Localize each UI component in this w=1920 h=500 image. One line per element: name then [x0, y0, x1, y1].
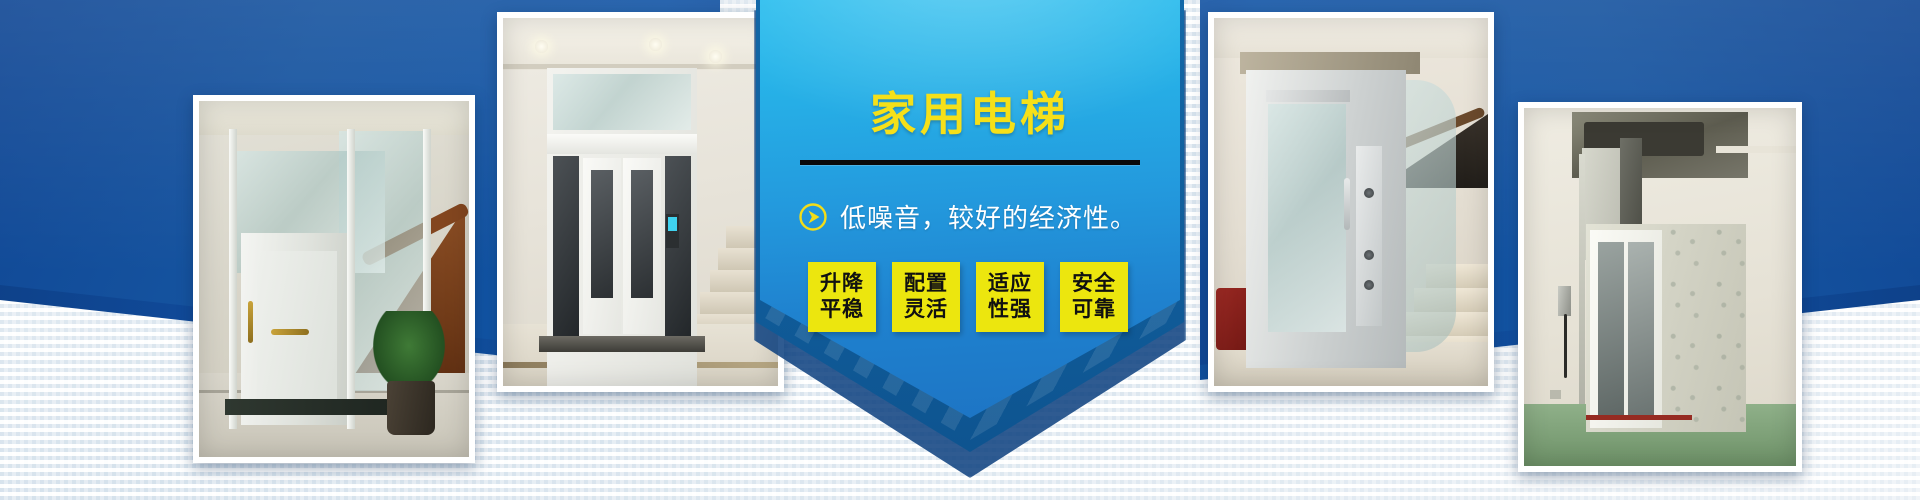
photo-glass-shaft-elevator-with-staircase-and-plant	[199, 101, 469, 457]
badge-line-2: 平稳	[820, 297, 864, 323]
badge-line-2: 可靠	[1072, 297, 1116, 323]
photo3-vignette	[1214, 18, 1488, 386]
photo2-vignette	[503, 18, 778, 386]
page-title: 家用电梯	[760, 78, 1180, 144]
badge-line-1: 升降	[820, 271, 864, 297]
list-item[interactable]	[1208, 12, 1494, 392]
badge-line-1: 适应	[988, 271, 1032, 297]
feature-badge-list: 升降 平稳 配置 灵活 适应 性强 安全 可靠	[808, 262, 1128, 332]
feature-badge[interactable]: 适应 性强	[976, 262, 1044, 332]
badge-line-1: 安全	[1072, 271, 1116, 297]
feature-badge[interactable]: 安全 可靠	[1060, 262, 1128, 332]
photo1-vignette	[199, 101, 469, 457]
panel-content: 家用电梯 低噪音，较好的经济性。 升降 平稳 配置 灵活	[760, 0, 1180, 418]
list-item[interactable]	[193, 95, 475, 463]
photo4-vignette	[1524, 108, 1796, 466]
badge-line-1: 配置	[904, 271, 948, 297]
subtitle-row: 低噪音，较好的经济性。	[798, 198, 1137, 235]
photo-aluminium-glass-cabin-elevator-beside-stone-stairs	[1214, 18, 1488, 386]
badge-line-2: 性强	[988, 297, 1032, 323]
circled-play-arrow-icon	[798, 202, 828, 232]
photo-modern-white-sliding-door-elevator-with-marble-stairs	[503, 18, 778, 386]
list-item[interactable]	[497, 12, 784, 392]
badge-line-2: 灵活	[904, 297, 948, 323]
title-divider-rule	[800, 160, 1140, 165]
subtitle-text: 低噪音，较好的经济性。	[840, 198, 1137, 235]
list-item[interactable]	[1518, 102, 1802, 472]
center-content-panel: 家用电梯 低噪音，较好的经济性。 升降 平稳 配置 灵活	[760, 0, 1180, 470]
feature-badge[interactable]: 配置 灵活	[892, 262, 960, 332]
home-elevator-promo-banner: 家用电梯 低噪音，较好的经济性。 升降 平稳 配置 灵活	[0, 0, 1920, 500]
photo-elevator-under-installation-with-protective-film	[1524, 108, 1796, 466]
feature-badge[interactable]: 升降 平稳	[808, 262, 876, 332]
